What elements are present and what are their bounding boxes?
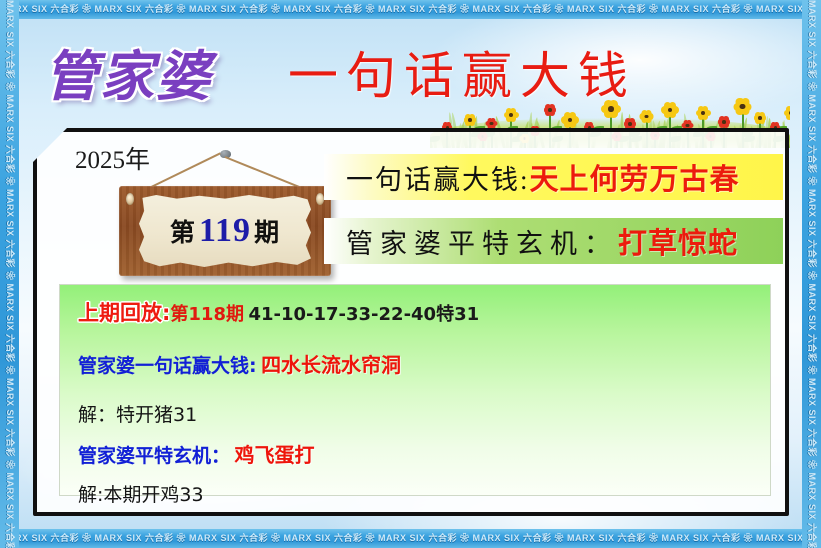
flower-petal [723, 122, 729, 128]
flower-petal [465, 120, 471, 126]
flower-core [548, 108, 552, 112]
flower-core [740, 104, 745, 109]
flower-petal [661, 106, 669, 114]
issue-suffix: 期 [254, 220, 280, 247]
flower-petal [504, 112, 511, 119]
banner-green-value: 打草惊蛇 [618, 220, 738, 262]
plaque-paper: 第119期 [139, 195, 311, 267]
flower-petal [506, 115, 513, 122]
flower-petal [491, 118, 496, 123]
flower-head [662, 102, 678, 118]
flower-petal [641, 110, 647, 116]
issue-number-text: 第119期 [170, 212, 280, 250]
flower-petal [443, 122, 448, 127]
banner-green-label: 管家婆平特玄机： [346, 222, 618, 261]
flower-head [562, 112, 578, 128]
flower-petal [671, 106, 679, 114]
flower-petal [446, 122, 451, 127]
flower-petal [569, 112, 577, 120]
flower-petal [512, 112, 519, 119]
content-box: 上期回放:第118期 41-10-17-33-22-40特31 管家婆一句话赢大… [59, 284, 771, 496]
flower-petal [640, 113, 646, 119]
flower-petal [585, 122, 590, 127]
flower-petal [683, 120, 688, 125]
flower-core [509, 113, 513, 117]
flower-petal [771, 122, 776, 127]
flower-core [722, 120, 726, 124]
flower-petal [669, 102, 677, 110]
flower-petal [755, 118, 761, 124]
flower-head [718, 116, 730, 128]
flower-petal [641, 117, 647, 123]
flower-petal [698, 113, 705, 120]
flower-petal [601, 105, 610, 114]
flower-core [758, 116, 762, 120]
prev-xuanji-answer-row: 解:本期开鸡33 [78, 480, 770, 507]
prev-slogan-answer: 解：特开猪31 [78, 404, 197, 426]
flower-petal [609, 100, 618, 109]
flower-head [754, 112, 766, 124]
flower-petal [645, 110, 651, 116]
flower-petal [551, 107, 557, 113]
hanging-plaque: 第119期 [97, 150, 347, 290]
flower-petal [486, 121, 491, 126]
border-strip-bottom: MARX SIX 六合彩 ❀ MARX SIX 六合彩 ❀ MARX SIX 六… [0, 529, 821, 548]
flower-petal [741, 98, 749, 106]
flower-petal [549, 110, 555, 116]
replay-row: 上期回放:第118期 41-10-17-33-22-40特31 [78, 297, 770, 327]
flower-petal [755, 112, 761, 118]
flower-petal [784, 110, 790, 117]
banner-yellow: 一句话赢大钱: 天上何劳万古春 [324, 154, 783, 200]
flower-petal [704, 110, 711, 117]
replay-numbers: 41-10-17-33-22-40 [248, 304, 436, 325]
prev-xuanji-value: 鸡飞蛋打 [234, 443, 314, 467]
flower-petal [471, 117, 477, 123]
replay-special-label: 特 [436, 304, 454, 325]
flower-petal [545, 110, 551, 116]
flower-petal [545, 104, 551, 110]
prev-slogan-label: 管家婆一句话赢大钱: [78, 355, 257, 377]
flower-petal [506, 108, 513, 115]
flower-petal [744, 103, 752, 111]
flower-head [734, 98, 751, 115]
prev-xuanji-answer: 解:本期开鸡33 [78, 484, 204, 506]
flower-petal [736, 98, 744, 106]
flower-head [784, 106, 790, 120]
flower-petal [702, 113, 709, 120]
flower-head [504, 108, 518, 122]
flower-petal [669, 110, 677, 118]
border-strip-right: MARX SIX 六合彩 ❀ MARX SIX 六合彩 ❀ MARX SIX 六… [802, 0, 821, 548]
prev-xuanji-label: 管家婆平特玄机： [78, 445, 230, 467]
flower-petal [612, 105, 621, 114]
prev-slogan-answer-row: 解：特开猪31 [78, 400, 770, 427]
flower-petal [774, 122, 779, 127]
flower-petal [469, 120, 475, 126]
flower-petal [629, 118, 635, 124]
flower-petal [687, 120, 692, 125]
flower-petal [759, 118, 765, 124]
flower-petal [624, 121, 630, 127]
flower-petal [698, 106, 705, 113]
flower-petal [469, 114, 475, 120]
poster-canvas: MARX SIX 六合彩 ❀ MARX SIX 六合彩 ❀ MARX SIX 六… [0, 0, 821, 548]
flower-head [544, 104, 556, 116]
flower-petal [786, 106, 790, 113]
flower-petal [487, 118, 492, 123]
flower-core [645, 115, 649, 119]
flower-petal [604, 109, 613, 118]
flower-core [608, 106, 613, 111]
flower-petal [754, 115, 760, 121]
flower-petal [625, 118, 631, 124]
flower-core [668, 108, 673, 113]
flower-petal [718, 119, 724, 125]
flower-petal [588, 122, 593, 127]
flower-petal [604, 100, 613, 109]
flower-petal [544, 107, 550, 113]
flower-petal [492, 121, 497, 126]
flower-head [486, 118, 497, 129]
flower-petal [549, 104, 555, 110]
brand-title: 管家婆 [44, 32, 212, 111]
flower-petal [510, 115, 517, 122]
flower-petal [664, 110, 672, 118]
flower-petal [696, 110, 703, 117]
issue-prefix: 第 [170, 220, 196, 247]
flower-petal [464, 117, 470, 123]
flower-petal [759, 112, 765, 118]
issue-number: 119 [196, 212, 254, 249]
flower-petal [741, 107, 749, 115]
banner-green: 管家婆平特玄机： 打草惊蛇 [324, 218, 783, 264]
flower-petal [733, 103, 741, 111]
plaque-screw-right [316, 193, 324, 205]
flower-core [490, 122, 493, 125]
flower-petal [761, 115, 767, 121]
flower-petal [510, 108, 517, 115]
flower-petal [647, 113, 653, 119]
flower-petal [719, 116, 725, 122]
flower-petal [561, 116, 569, 124]
flower-head [696, 106, 710, 120]
flower-petal [736, 107, 744, 115]
flower-petal [719, 122, 725, 128]
flower-core [468, 118, 472, 122]
flower-core [568, 118, 573, 123]
flower-head [464, 114, 476, 126]
replay-special-number: 31 [454, 304, 479, 325]
banner-yellow-label: 一句话赢大钱: [346, 158, 530, 197]
replay-issue: 第118期 [170, 304, 244, 325]
prev-slogan-row: 管家婆一句话赢大钱: 四水长流水帘洞 [78, 349, 770, 378]
plaque-board: 第119期 [119, 186, 331, 276]
plaque-screw-left [126, 193, 134, 205]
prev-xuanji-row: 管家婆平特玄机： 鸡飞蛋打 [78, 439, 770, 468]
flower-petal [571, 116, 579, 124]
flower-petal [465, 114, 471, 120]
main-panel: 2025年 第119期 一句话赢大钱: [33, 128, 789, 516]
border-strip-top: MARX SIX 六合彩 ❀ MARX SIX 六合彩 ❀ MARX SIX 六… [0, 0, 821, 19]
replay-label: 上期回放: [78, 301, 170, 325]
flower-core [686, 124, 689, 127]
flower-petal [702, 106, 709, 113]
border-strip-left: MARX SIX 六合彩 ❀ MARX SIX 六合彩 ❀ MARX SIX 六… [0, 0, 19, 548]
flower-petal [682, 123, 687, 128]
banner-yellow-value: 天上何劳万古春 [530, 156, 740, 198]
flower-petal [786, 113, 790, 120]
flower-core [628, 122, 632, 126]
flower-head [640, 110, 653, 123]
flower-petal [664, 102, 672, 110]
flower-petal [569, 120, 577, 128]
flower-petal [564, 120, 572, 128]
flower-head [602, 100, 620, 118]
flower-core [789, 111, 790, 115]
flower-core [701, 111, 705, 115]
prev-slogan-value: 四水长流水帘洞 [261, 353, 401, 377]
flower-petal [609, 109, 618, 118]
flower-petal [645, 117, 651, 123]
flower-petal [723, 116, 729, 122]
flower-petal [564, 112, 572, 120]
